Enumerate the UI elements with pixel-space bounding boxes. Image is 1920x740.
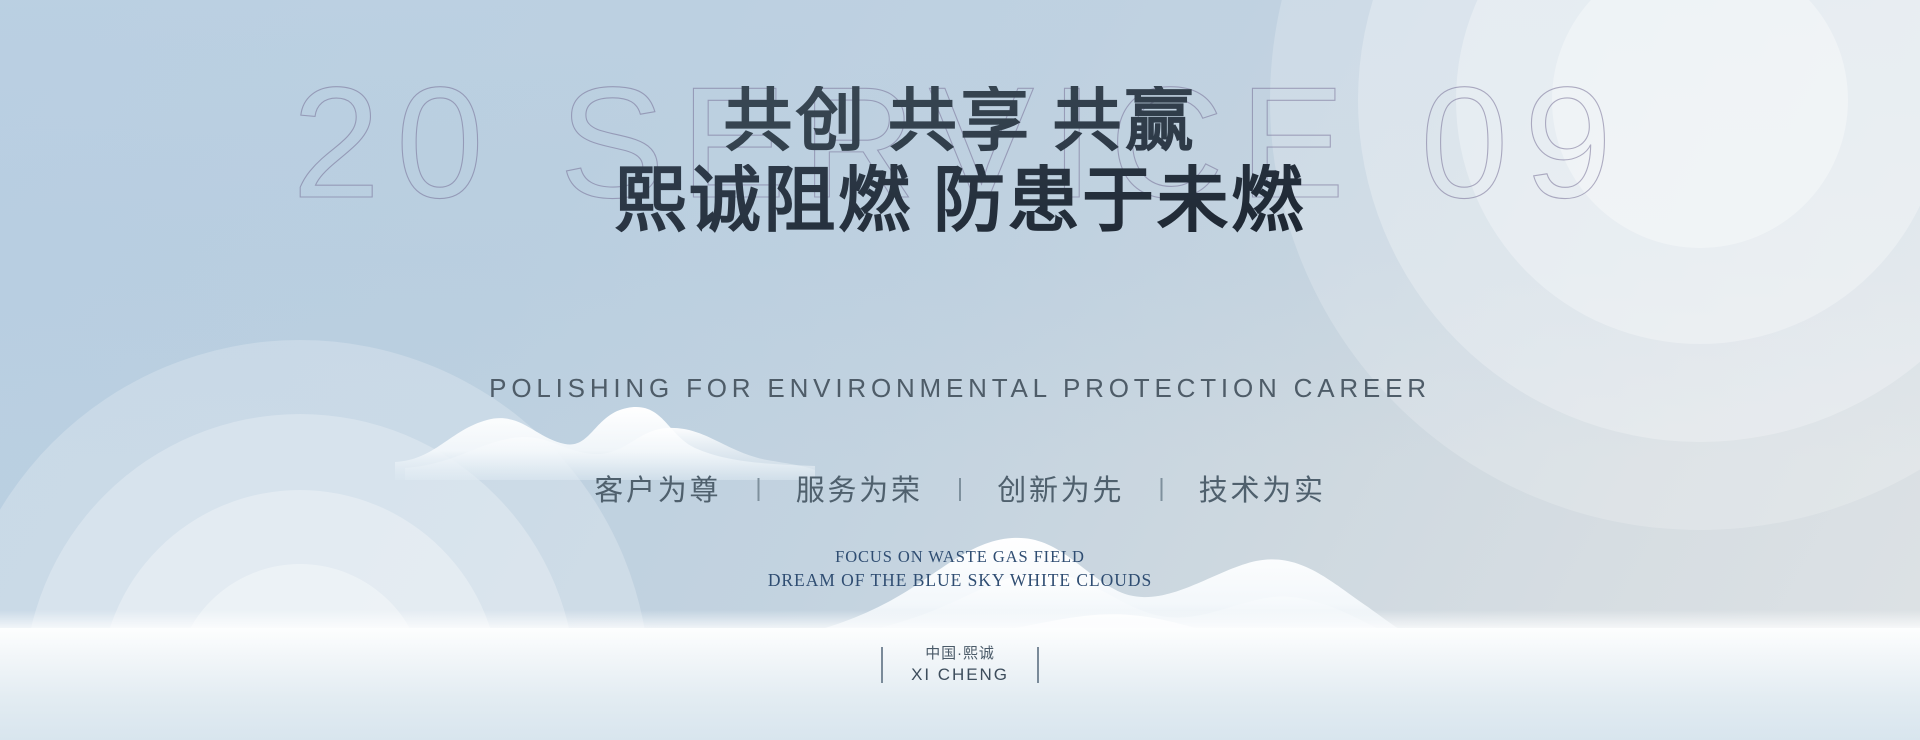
- core-value-1: 客户为尊: [560, 467, 755, 509]
- logo-divider-left-icon: [881, 647, 883, 683]
- logo-chinese-name: 中国·熙诚: [911, 644, 1009, 664]
- english-tagline: POLISHING FOR ENVIRONMENTAL PROTECTION C…: [0, 373, 1920, 404]
- core-value-2: 服务为荣: [762, 467, 957, 509]
- core-values-row: 客户为尊 | 服务为荣 | 创新为先 | 技术为实: [0, 467, 1920, 509]
- slogan-line-2: DREAM OF THE BLUE SKY WHITE CLOUDS: [0, 568, 1920, 593]
- core-value-3: 创新为先: [963, 467, 1158, 509]
- logo-english-name: XI CHENG: [911, 664, 1009, 686]
- logo-divider-right-icon: [1037, 647, 1039, 683]
- core-value-4: 技术为实: [1165, 467, 1360, 509]
- headline-line-1: 共创 共享 共赢: [0, 86, 1920, 158]
- serif-slogan-block: FOCUS ON WASTE GAS FIELD DREAM OF THE BL…: [0, 545, 1920, 593]
- brand-logo-lockup: 中国·熙诚 XI CHENG: [0, 644, 1920, 686]
- logo-text-group: 中国·熙诚 XI CHENG: [911, 644, 1009, 686]
- headline-block: 共创 共享 共赢 熙诚阻燃 防患于未燃: [0, 86, 1920, 239]
- promo-banner: 20 SERVICE 09 共创 共享 共赢 熙诚阻燃 防患于未燃 POLISH…: [0, 0, 1920, 740]
- headline-line-2: 熙诚阻燃 防患于未燃: [0, 164, 1920, 239]
- slogan-line-1: FOCUS ON WASTE GAS FIELD: [0, 545, 1920, 568]
- horizon-glow: [0, 610, 1920, 628]
